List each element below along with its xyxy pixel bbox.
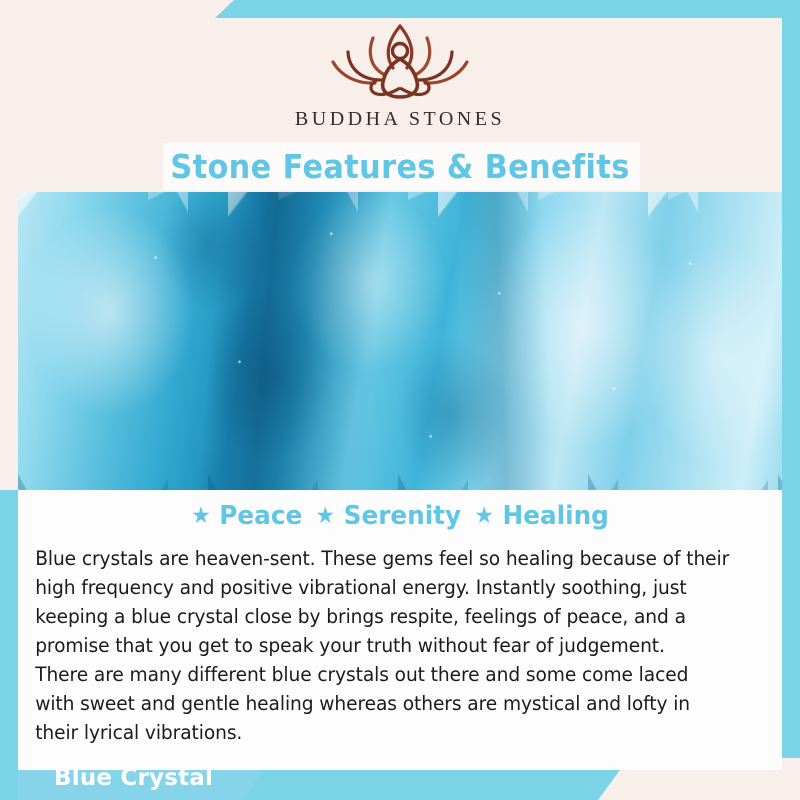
keyword-label: Healing <box>503 501 609 531</box>
brand-name: BUDDHA STONES <box>295 108 505 131</box>
hero-image-sparkles <box>18 192 782 490</box>
hero-image <box>18 192 782 490</box>
keyword-label: Peace <box>219 501 302 531</box>
poster-root: BUDDHA STONES Stone Features & Benefits … <box>0 0 800 800</box>
left-accent-strip <box>0 490 18 770</box>
description-paragraph-2: There are many different blue crystals o… <box>35 660 732 747</box>
keyword-list: ★ Peace ★ Serenity ★ Healing <box>37 490 763 542</box>
keyword-peace: ★ Peace <box>191 501 302 531</box>
brand-logo: BUDDHA STONES <box>0 18 800 143</box>
page-title: Stone Features & Benefits <box>32 140 768 192</box>
star-icon: ★ <box>191 505 211 528</box>
keyword-healing: ★ Healing <box>474 501 608 531</box>
keyword-serenity: ★ Serenity <box>316 501 462 531</box>
top-accent-band <box>215 0 800 18</box>
description-text: Blue crystals are heaven-sent. These gem… <box>18 542 748 747</box>
lotus-meditation-icon <box>315 18 485 106</box>
content-section: ★ Peace ★ Serenity ★ Healing Blue crysta… <box>18 490 782 770</box>
description-paragraph-1: Blue crystals are heaven-sent. These gem… <box>35 544 732 660</box>
keyword-label: Serenity <box>344 501 461 531</box>
star-icon: ★ <box>474 505 494 528</box>
star-icon: ★ <box>316 505 336 528</box>
